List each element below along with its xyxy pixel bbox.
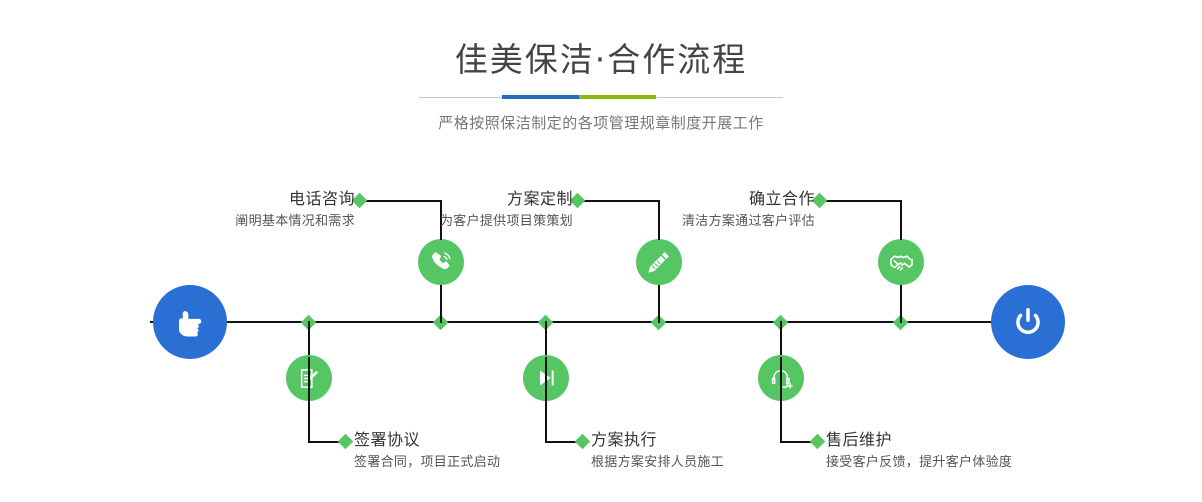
- node-stem: [440, 285, 442, 323]
- step-label-2: 签署协议 签署合同，项目正式启动: [354, 429, 500, 473]
- divider-segment-green: [579, 95, 656, 99]
- step-desc: 为客户提供项目策策划: [318, 212, 573, 232]
- step-desc: 清洁方案通过客户评估: [560, 212, 815, 232]
- header: 佳美保洁·合作流程 严格按照保洁制定的各项管理规章制度开展工作: [0, 0, 1202, 134]
- step-desc: 阐明基本情况和需求: [100, 212, 355, 232]
- page-subtitle: 严格按照保洁制定的各项管理规章制度开展工作: [0, 112, 1202, 134]
- node-stem: [308, 321, 310, 357]
- step-title: 确立合作: [560, 188, 815, 210]
- step-desc: 接受客户反馈，提升客户体验度: [826, 453, 1012, 473]
- power-icon: [1007, 301, 1049, 343]
- page-title: 佳美保洁·合作流程: [0, 38, 1202, 82]
- step-label-4: 方案执行 根据方案安排人员施工: [591, 429, 724, 473]
- step-label-5: 确立合作 清洁方案通过客户评估: [560, 188, 815, 232]
- step-title: 电话咨询: [100, 188, 355, 210]
- step-label-3: 方案定制 为客户提供项目策策划: [318, 188, 573, 232]
- divider-segment-blue: [502, 95, 579, 99]
- step-desc: 根据方案安排人员施工: [591, 453, 724, 473]
- step-title: 签署协议: [354, 429, 500, 451]
- label-marker-diamond: [810, 434, 826, 450]
- label-connector-vertical: [545, 357, 547, 442]
- label-connector-vertical: [308, 357, 310, 442]
- node-stem: [545, 321, 547, 357]
- step-title: 售后维护: [826, 429, 1012, 451]
- title-divider: [419, 92, 783, 104]
- node-stem: [780, 321, 782, 357]
- node-stem: [658, 285, 660, 323]
- handshake-icon: [888, 249, 915, 276]
- step-node-1[interactable]: [418, 239, 464, 285]
- pencil-ruler-icon: [646, 249, 672, 275]
- label-connector-vertical: [900, 200, 902, 240]
- end-endcap: [991, 285, 1065, 359]
- label-marker-diamond: [338, 434, 354, 450]
- label-connector-horizontal: [824, 200, 902, 202]
- step-desc: 签署合同，项目正式启动: [354, 453, 500, 473]
- pointing-hand-icon: [170, 302, 210, 342]
- step-title: 方案执行: [591, 429, 724, 451]
- label-connector-vertical: [780, 357, 782, 442]
- cooperation-process-infographic: 佳美保洁·合作流程 严格按照保洁制定的各项管理规章制度开展工作: [0, 0, 1202, 502]
- phone-call-icon: [428, 249, 454, 275]
- timeline-axis: [150, 321, 1052, 323]
- step-title: 方案定制: [318, 188, 573, 210]
- step-label-1: 电话咨询 阐明基本情况和需求: [100, 188, 355, 232]
- start-endcap: [153, 285, 227, 359]
- node-stem: [900, 285, 902, 323]
- label-marker-diamond: [575, 434, 591, 450]
- step-node-5[interactable]: [878, 239, 924, 285]
- step-label-6: 售后维护 接受客户反馈，提升客户体验度: [826, 429, 1012, 473]
- step-node-3[interactable]: [636, 239, 682, 285]
